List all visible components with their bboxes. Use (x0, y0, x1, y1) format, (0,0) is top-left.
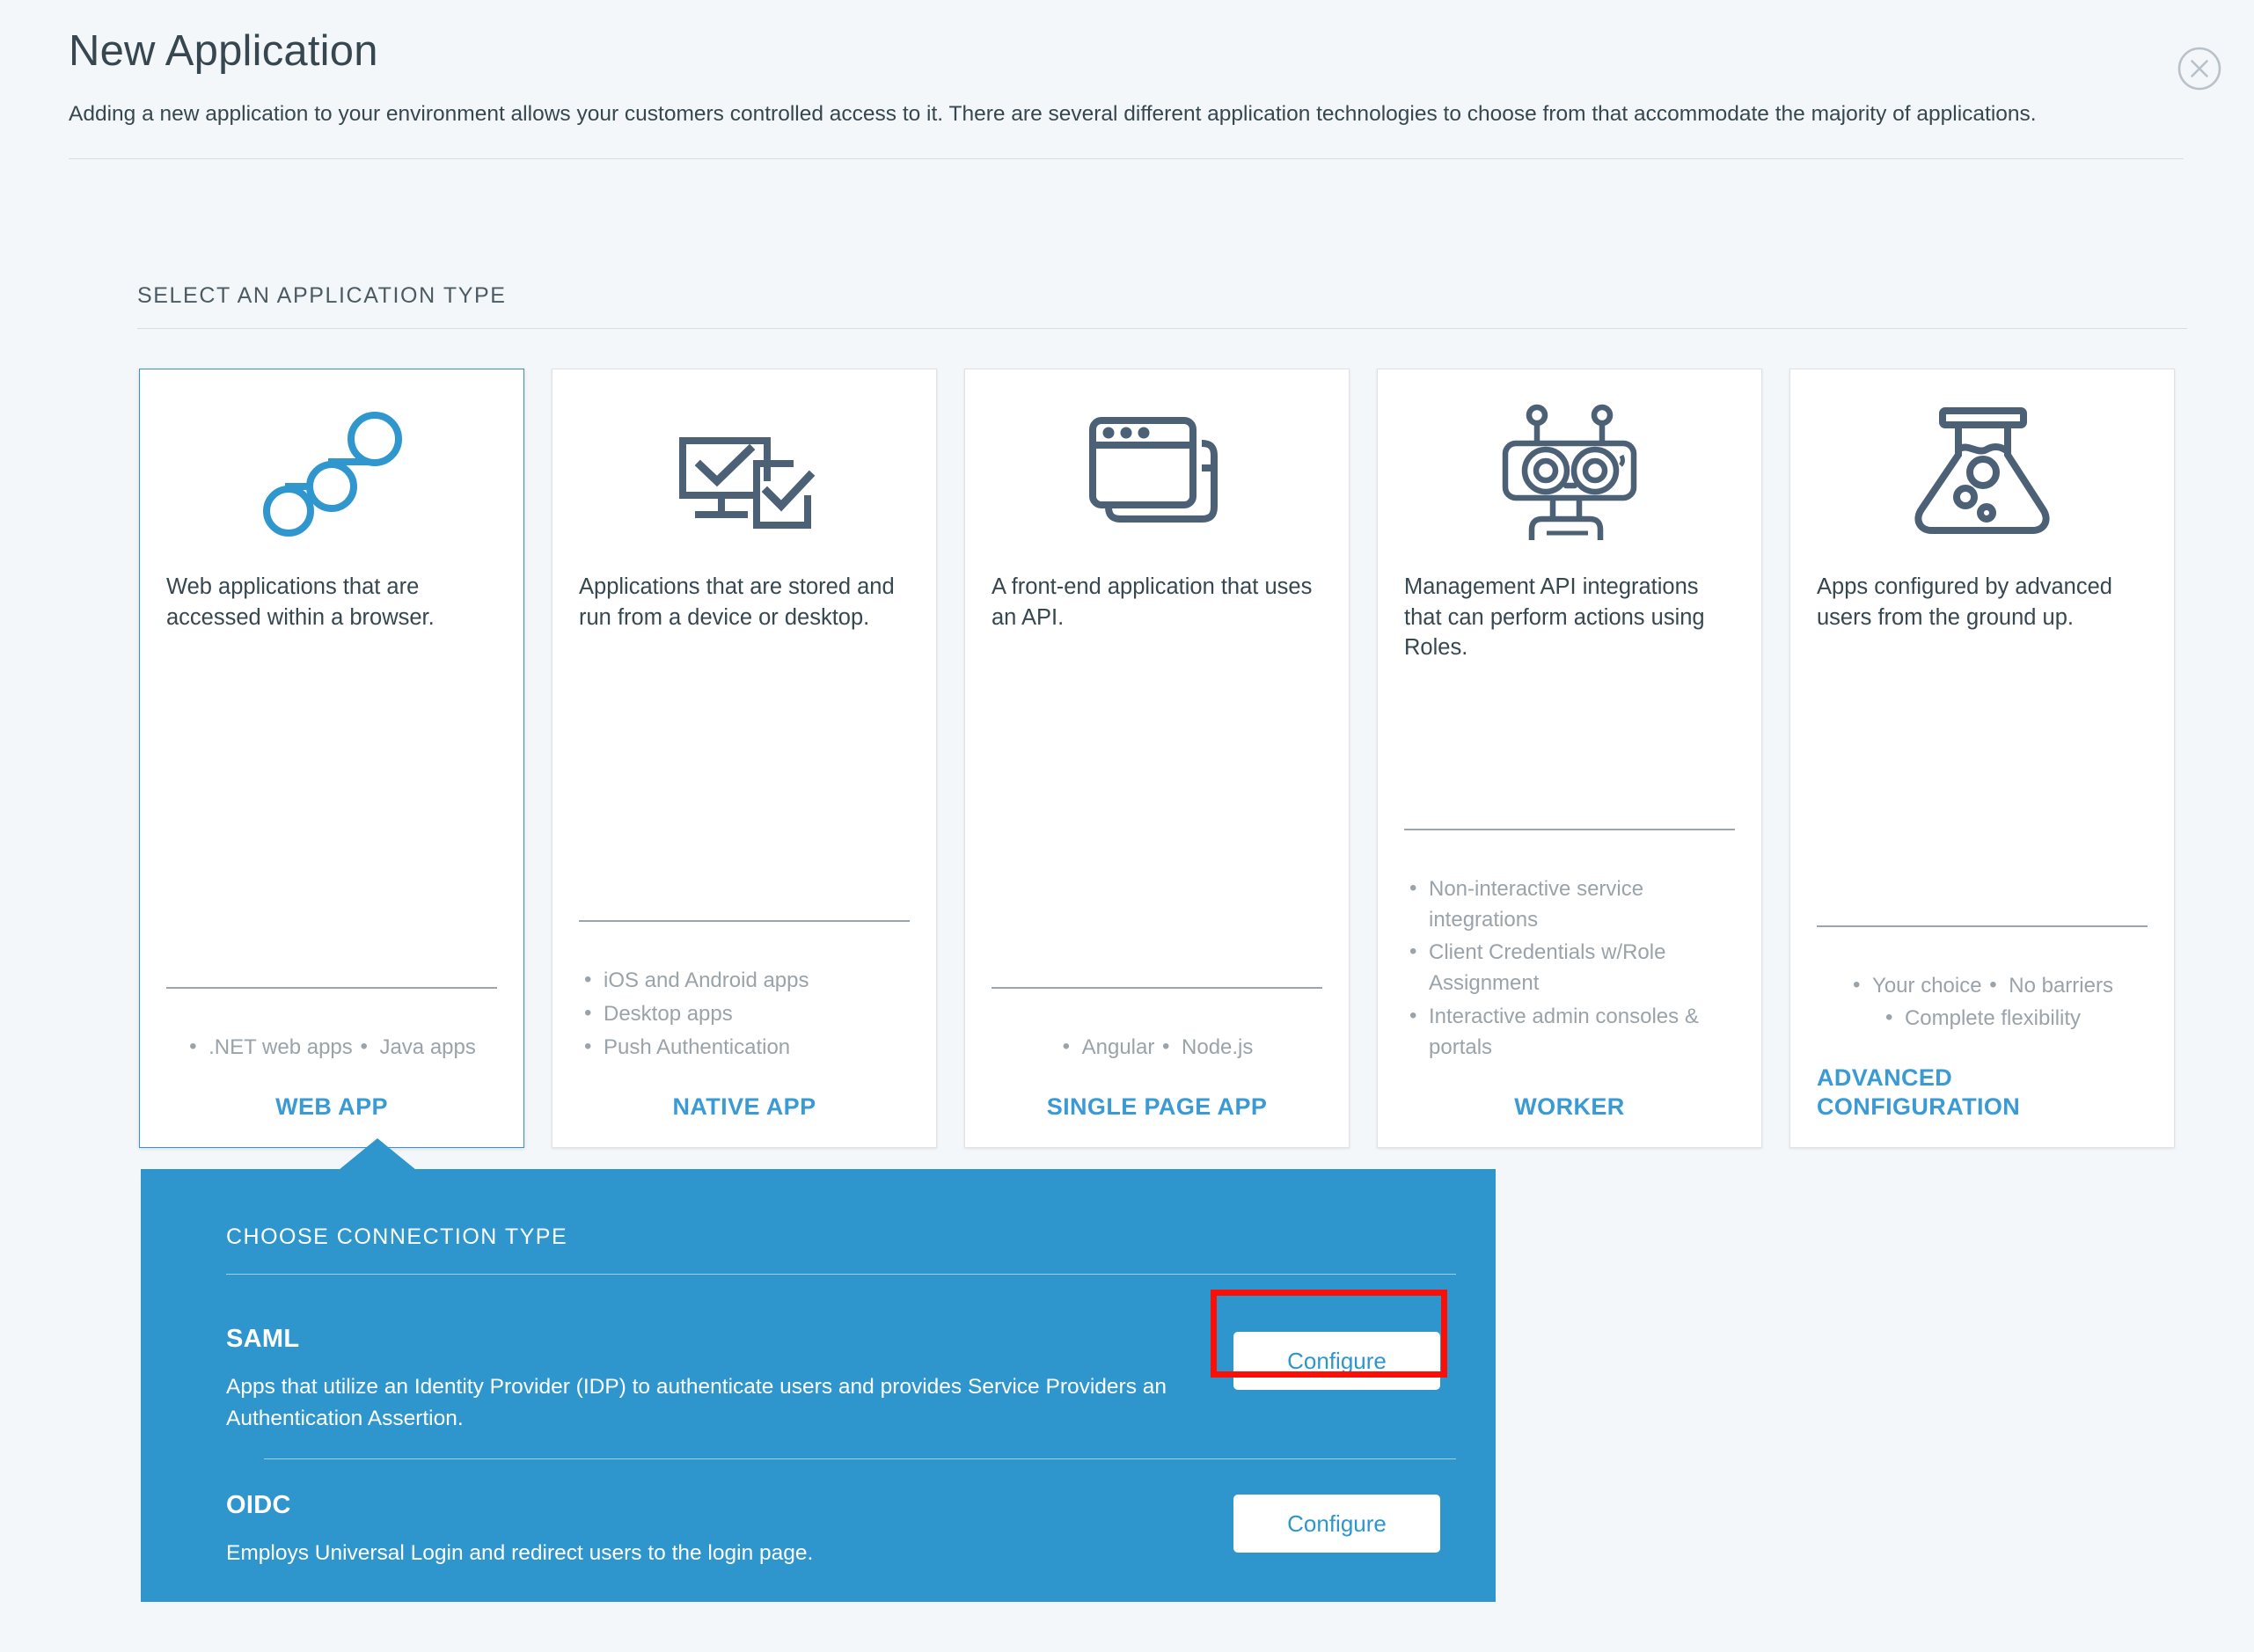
connection-option-text: SAML Apps that utilize an Identity Provi… (226, 1325, 1233, 1434)
app-type-card-single-page-app[interactable]: A front-end application that uses an API… (964, 369, 1350, 1148)
connection-option-name: OIDC (226, 1491, 1233, 1520)
page-subtitle: Adding a new application to your environ… (69, 98, 2176, 131)
connection-panel-title: CHOOSE CONNECTION TYPE (226, 1224, 1496, 1250)
configure-saml-button[interactable]: Configure (1233, 1332, 1440, 1390)
card-cta-label[interactable]: ADVANCED CONFIGURATION (1817, 1064, 2148, 1121)
app-type-card-native-app[interactable]: Applications that are stored and run fro… (552, 369, 937, 1148)
browser-windows-icon (992, 369, 1322, 572)
list-item: .NET web apps (187, 1033, 353, 1064)
nodes-graph-icon (166, 369, 497, 572)
card-divider (992, 987, 1322, 989)
connection-option-divider (264, 1458, 1456, 1459)
list-item: Angular (1061, 1033, 1155, 1064)
card-description: Management API integrations that can per… (1404, 572, 1735, 704)
card-spacer (992, 704, 1322, 987)
card-divider (166, 987, 497, 989)
list-item: iOS and Android apps (582, 966, 910, 997)
connection-option-description: Apps that utilize an Identity Provider (… (226, 1371, 1211, 1434)
card-description: A front-end application that uses an API… (992, 572, 1322, 704)
new-application-dialog: New Application Adding a new application… (0, 0, 2254, 1652)
card-divider (579, 920, 910, 922)
configure-oidc-button[interactable]: Configure (1233, 1495, 1440, 1553)
section-divider (137, 328, 2187, 329)
panel-caret (339, 1138, 416, 1170)
desktop-device-check-icon (579, 369, 910, 572)
card-cta-label[interactable]: WEB APP (166, 1093, 497, 1121)
card-spacer (1817, 704, 2148, 925)
card-spacer (1404, 704, 1735, 829)
list-item: Complete flexibility (1884, 1004, 2081, 1034)
robot-icon (1404, 369, 1735, 572)
connection-option-saml: SAML Apps that utilize an Identity Provi… (226, 1325, 1456, 1434)
flask-icon (1817, 369, 2148, 572)
list-item: Your choice (1851, 971, 1982, 1002)
card-bullets: iOS and Android apps Desktop apps Push A… (579, 966, 910, 1065)
dialog-header: New Application Adding a new application… (69, 26, 2184, 159)
card-bullets: Non-interactive service integrations Cli… (1404, 874, 1735, 1066)
card-description: Web applications that are accessed withi… (166, 572, 497, 704)
app-type-card-worker[interactable]: Management API integrations that can per… (1377, 369, 1762, 1148)
card-description: Applications that are stored and run fro… (579, 572, 910, 704)
card-divider (1404, 829, 1735, 830)
header-divider (69, 158, 2184, 159)
card-cta-label[interactable]: SINGLE PAGE APP (992, 1093, 1322, 1121)
section-label: SELECT AN APPLICATION TYPE (137, 283, 2187, 309)
close-icon[interactable] (2177, 46, 2222, 91)
list-item: Desktop apps (582, 999, 910, 1030)
connection-option-oidc: OIDC Employs Universal Login and redirec… (226, 1491, 1456, 1569)
page-title: New Application (69, 26, 2184, 76)
card-divider (1817, 925, 2148, 927)
list-item: Interactive admin consoles & portals (1408, 1002, 1735, 1064)
card-bullets: .NET web apps Java apps (166, 1033, 497, 1066)
card-spacer (579, 704, 910, 920)
application-type-section: SELECT AN APPLICATION TYPE (137, 283, 2187, 329)
card-cta-label[interactable]: NATIVE APP (579, 1093, 910, 1121)
app-type-card-advanced-configuration[interactable]: Apps configured by advanced users from t… (1789, 369, 2175, 1148)
list-item: Non-interactive service integrations (1408, 874, 1735, 936)
list-item: Push Authentication (582, 1033, 910, 1064)
card-spacer (166, 704, 497, 987)
card-bullets: Your choice No barriers Complete flexibi… (1817, 971, 2148, 1038)
application-type-cards: Web applications that are accessed withi… (139, 369, 2189, 1148)
list-item: Java apps (358, 1033, 475, 1064)
card-description: Apps configured by advanced users from t… (1817, 572, 2148, 704)
connection-option-description: Employs Universal Login and redirect use… (226, 1538, 1211, 1569)
list-item: Client Credentials w/Role Assignment (1408, 938, 1735, 999)
connection-option-text: OIDC Employs Universal Login and redirec… (226, 1491, 1233, 1569)
connection-panel-divider (226, 1274, 1456, 1275)
card-bullets: Angular Node.js (992, 1033, 1322, 1066)
app-type-card-web-app[interactable]: Web applications that are accessed withi… (139, 369, 524, 1148)
card-cta-label[interactable]: WORKER (1404, 1093, 1735, 1121)
list-item: No barriers (1987, 971, 2113, 1002)
list-item: Node.js (1160, 1033, 1253, 1064)
choose-connection-type-panel: CHOOSE CONNECTION TYPE SAML Apps that ut… (141, 1169, 1496, 1602)
connection-option-name: SAML (226, 1325, 1233, 1354)
